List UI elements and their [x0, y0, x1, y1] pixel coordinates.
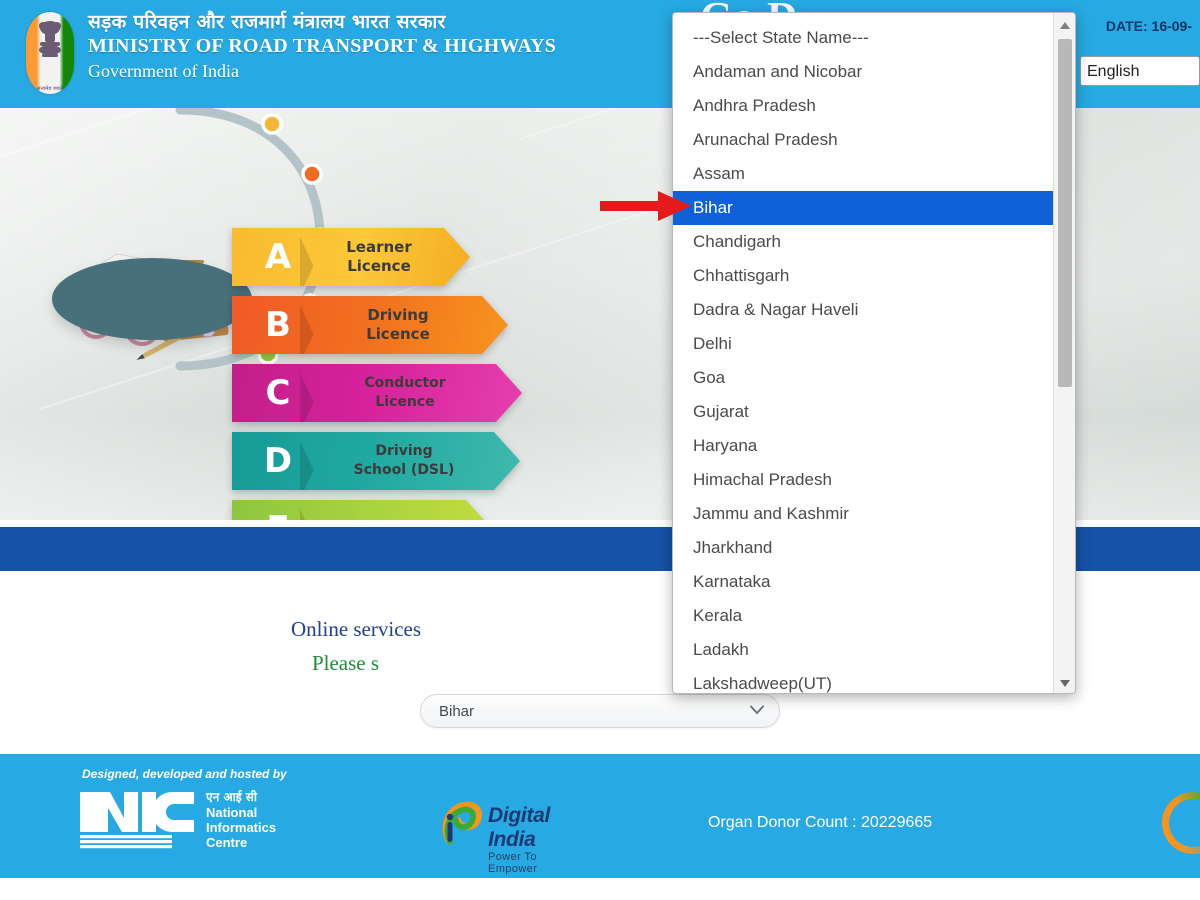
page-root: सत्यमेव जयते सड़क परिवहन और राजमार्ग मंत…	[0, 0, 1200, 900]
nic-line-3: Centre	[206, 835, 276, 850]
scrollbar-up-arrow-icon[interactable]	[1054, 13, 1076, 37]
organ-donor-count: Organ Donor Count : 20229665	[708, 814, 932, 832]
tab-letter-a: A	[232, 237, 314, 277]
header-date: DATE: 16-09-	[1106, 18, 1192, 34]
dropdown-option-jammu-and-kashmir[interactable]: Jammu and Kashmir	[673, 497, 1055, 531]
language-select[interactable]: English	[1080, 56, 1200, 86]
tab-letter-d: D	[232, 441, 314, 481]
tab-letter-b: B	[232, 305, 314, 345]
designed-by-text: Designed, developed and hosted by	[82, 767, 287, 781]
dropdown-option-assam[interactable]: Assam	[673, 157, 1055, 191]
tab-label-status: Status	[314, 520, 492, 521]
emblem-caption: सत्यमेव जयते	[18, 86, 82, 92]
tab-letter-e: E	[232, 509, 314, 520]
ministry-title-english: MINISTRY OF ROAD TRANSPORT & HIGHWAYS	[88, 34, 556, 59]
nic-line-2: Informatics	[206, 820, 276, 835]
digital-india-tagline: Power To Empower	[488, 851, 550, 875]
dropdown-scrollbar[interactable]	[1053, 13, 1075, 694]
dropdown-option-select-state[interactable]: ---Select State Name---	[673, 21, 1055, 55]
tab-letter-c: C	[232, 373, 314, 413]
state-dropdown-list[interactable]: ---Select State Name--- Andaman and Nico…	[672, 12, 1076, 694]
nic-hindi-label: एन आई सी	[206, 790, 276, 805]
dropdown-option-andaman-and-nicobar[interactable]: Andaman and Nicobar	[673, 55, 1055, 89]
dropdown-option-chhattisgarh[interactable]: Chhattisgarh	[673, 259, 1055, 293]
tab-status[interactable]: E Status	[232, 500, 492, 520]
nic-mark-icon	[80, 792, 195, 850]
state-select[interactable]: Bihar	[420, 694, 780, 728]
tab-label-driving-licence: DrivingLicence	[314, 306, 508, 344]
tab-driving-school[interactable]: D DrivingSchool (DSL)	[232, 432, 520, 490]
dropdown-option-jharkhand[interactable]: Jharkhand	[673, 531, 1055, 565]
site-footer: Designed, developed and hosted by एन आई …	[0, 754, 1200, 878]
tab-label-driving-school: DrivingSchool (DSL)	[314, 442, 520, 480]
tab-conductor-licence[interactable]: C ConductorLicence	[232, 364, 522, 422]
state-select-wrapper: Bihar	[420, 694, 780, 728]
dropdown-option-haryana[interactable]: Haryana	[673, 429, 1055, 463]
dropdown-option-kerala[interactable]: Kerala	[673, 599, 1055, 633]
digital-india-logo: Digital India Power To Empower	[440, 800, 484, 853]
dropdown-option-dadra-and-nagar-haveli[interactable]: Dadra & Nagar Haveli	[673, 293, 1055, 327]
notice-line2-left: Please s	[312, 651, 379, 675]
scrollbar-down-arrow-icon[interactable]	[1054, 671, 1076, 694]
dropdown-option-andhra-pradesh[interactable]: Andhra Pradesh	[673, 89, 1055, 123]
ministry-title-hindi: सड़क परिवहन और राजमार्ग मंत्रालय भारत सर…	[88, 10, 556, 34]
scrollbar-thumb[interactable]	[1058, 39, 1072, 387]
national-emblem-icon: सत्यमेव जयते	[18, 8, 82, 98]
tab-label-conductor-licence: ConductorLicence	[314, 374, 522, 412]
dropdown-option-ladakh[interactable]: Ladakh	[673, 633, 1055, 667]
digital-india-name: Digital India	[488, 804, 550, 852]
dropdown-option-delhi[interactable]: Delhi	[673, 327, 1055, 361]
digital-india-text: Digital India Power To Empower	[488, 804, 550, 875]
dropdown-option-goa[interactable]: Goa	[673, 361, 1055, 395]
date-value: 16-09-	[1152, 18, 1192, 34]
dropdown-option-chandigarh[interactable]: Chandigarh	[673, 225, 1055, 259]
dropdown-option-arunachal-pradesh[interactable]: Arunachal Pradesh	[673, 123, 1055, 157]
government-of-india-label: Government of India	[88, 59, 556, 83]
dropdown-option-himachal-pradesh[interactable]: Himachal Pradesh	[673, 463, 1055, 497]
dropdown-option-bihar[interactable]: Bihar	[673, 191, 1055, 225]
service-tabs-group: A LearnerLicence B DrivingLicence C Cond…	[232, 228, 552, 520]
dropdown-option-gujarat[interactable]: Gujarat	[673, 395, 1055, 429]
notice-line1-left: Online services	[291, 617, 421, 641]
ashoka-lion-capital-icon	[33, 18, 67, 66]
tab-driving-licence[interactable]: B DrivingLicence	[232, 296, 508, 354]
tab-learner-licence[interactable]: A LearnerLicence	[232, 228, 470, 286]
date-label: DATE:	[1106, 18, 1148, 34]
corner-ring-logo-icon	[1162, 792, 1200, 854]
dropdown-option-lakshadweep-ut[interactable]: Lakshadweep(UT)	[673, 667, 1055, 694]
nic-line-1: National	[206, 805, 276, 820]
digital-india-mark-icon	[440, 800, 484, 848]
state-dropdown-options: ---Select State Name--- Andaman and Nico…	[673, 13, 1055, 694]
tab-label-learner-licence: LearnerLicence	[314, 238, 470, 276]
nic-wordmark: एन आई सी National Informatics Centre	[206, 790, 276, 850]
header-titles: सड़क परिवहन और राजमार्ग मंत्रालय भारत सर…	[88, 10, 556, 83]
dropdown-option-karnataka[interactable]: Karnataka	[673, 565, 1055, 599]
